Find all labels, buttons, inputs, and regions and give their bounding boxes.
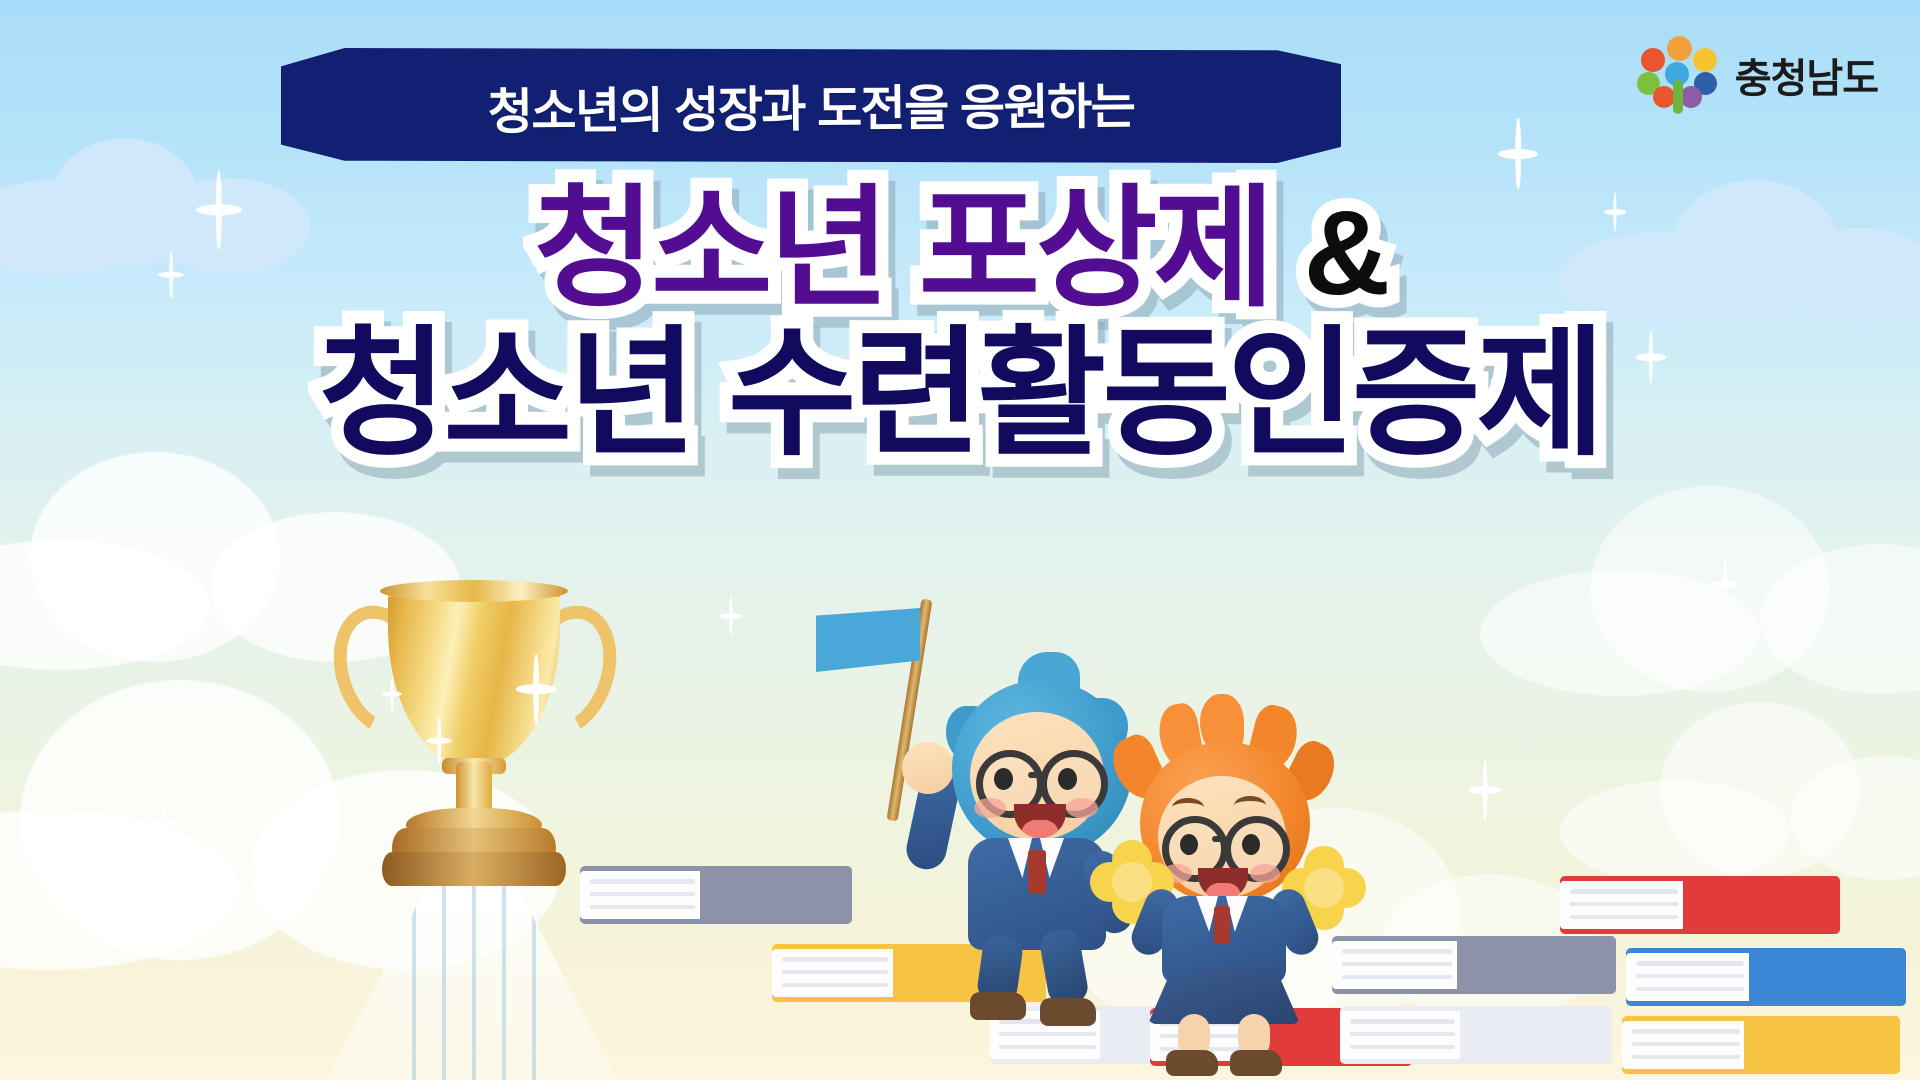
- gold-trophy-icon: [330, 570, 620, 920]
- boy-shoe-left: [970, 992, 1026, 1020]
- girl-cheek-right: [1250, 864, 1280, 883]
- boy-eye-right: [1058, 768, 1077, 790]
- girl-shoe-left: [1166, 1050, 1218, 1076]
- boy-glasses-bridge: [1028, 772, 1044, 778]
- book-red-2: [1560, 876, 1840, 934]
- cloud-right-low: [1560, 690, 1920, 880]
- sparkle-3: [1498, 118, 1538, 190]
- book-yellow-2: [1622, 1016, 1900, 1074]
- chungnam-flower-logo-icon: [1637, 36, 1721, 114]
- girl-mascot-orange: [1086, 690, 1366, 1020]
- girl-eye-left: [1180, 834, 1198, 855]
- boy-left-hand: [902, 742, 954, 794]
- girl-eyebrow-left: [1172, 798, 1204, 817]
- sparkle-9: [720, 596, 742, 636]
- ribbon-label: 청소년의 성장과 도전을 응원하는: [281, 43, 1342, 167]
- girl-eye-right: [1242, 834, 1260, 855]
- book-grey-1: [580, 866, 852, 924]
- girl-shoe-right: [1230, 1050, 1282, 1076]
- book-white-2: [1340, 1006, 1612, 1064]
- girl-eyebrow-right: [1234, 796, 1266, 815]
- girl-glasses-bridge: [1212, 836, 1228, 842]
- ribbon-banner: 청소년의 성장과 도전을 응원하는: [281, 48, 1341, 163]
- title-line-1-text: 청소년 포상제: [534, 182, 1271, 317]
- cloud-mid-right: [1480, 470, 1920, 690]
- boy-cheek-left: [974, 798, 1006, 818]
- boy-necktie: [1028, 850, 1046, 894]
- book-blue-1: [1626, 948, 1906, 1006]
- book-grey-2: [1332, 936, 1616, 994]
- title-ampersand: &: [1304, 192, 1387, 314]
- title-line-2-text: 청소년 수련활동인증제: [319, 323, 1602, 466]
- chungnam-logo-label: 충청남도: [1735, 46, 1878, 104]
- boy-mouth: [1014, 804, 1066, 838]
- title-line-1: 청소년 포상제 &: [0, 182, 1920, 317]
- page-title: 청소년 포상제 & 청소년 수련활동인증제: [0, 182, 1920, 465]
- girl-skirt: [1148, 968, 1300, 1024]
- title-line-2: 청소년 수련활동인증제: [0, 323, 1920, 466]
- promo-banner-canvas: 청소년의 성장과 도전을 응원하는 청소년 포상제 & 청소년 수련활동인증제 …: [0, 0, 1920, 1080]
- boy-eye-left: [994, 768, 1013, 790]
- blue-flag: [816, 608, 920, 672]
- chungnam-logo[interactable]: 충청남도: [1637, 36, 1878, 114]
- girl-necktie: [1214, 906, 1230, 944]
